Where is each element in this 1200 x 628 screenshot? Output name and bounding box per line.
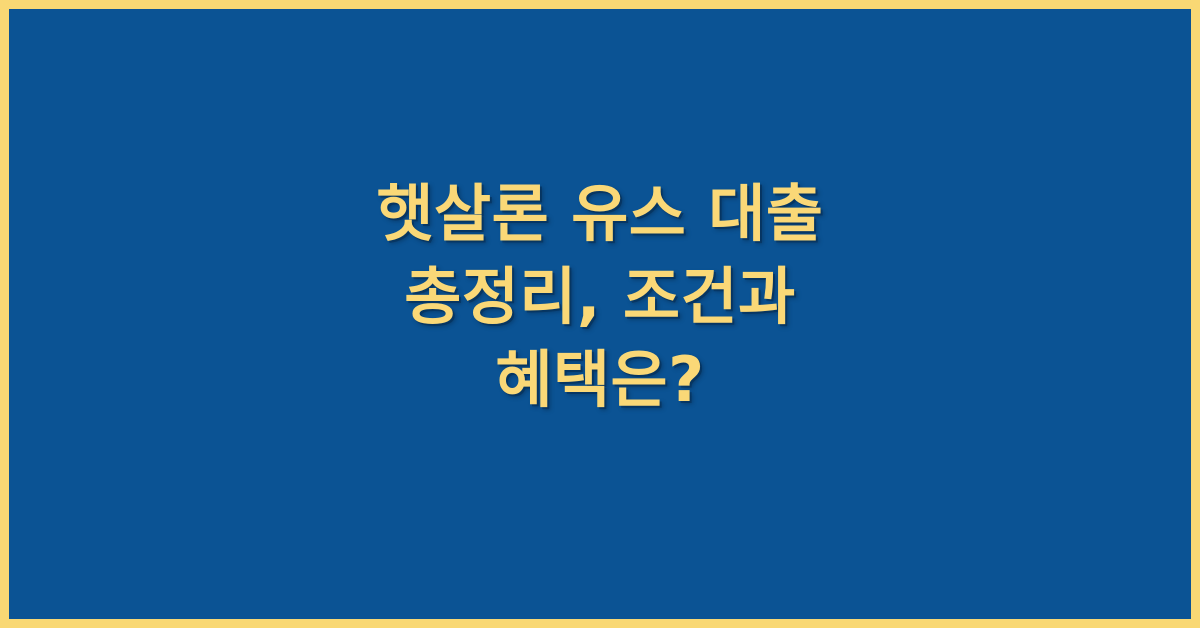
thumbnail-card: 햇살론 유스 대출 총정리, 조건과 혜택은? [0, 0, 1200, 628]
headline-line-2: 총정리, 조건과 [404, 255, 795, 338]
headline-line-3: 혜택은? [495, 338, 704, 421]
border-frame-top [0, 0, 1200, 9]
headline-block: 햇살론 유스 대출 총정리, 조건과 혜택은? [0, 0, 1200, 628]
border-frame-bottom [0, 619, 1200, 628]
border-frame-left [0, 0, 9, 628]
headline-line-1: 햇살론 유스 대출 [377, 172, 824, 255]
border-frame-right [1191, 0, 1200, 628]
